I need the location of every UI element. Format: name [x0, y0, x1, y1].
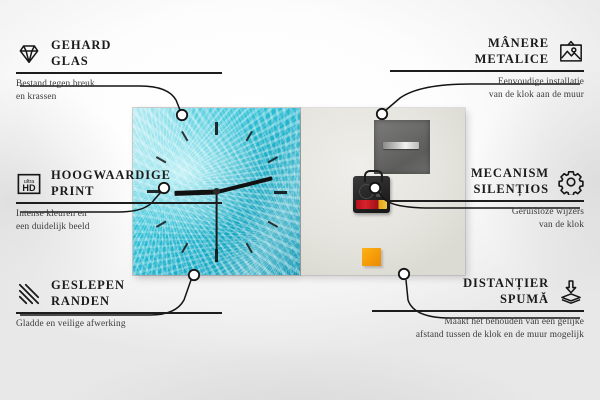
infographic-canvas: GEHARD GLAS Bestand tegen breuk en krass…: [0, 0, 600, 400]
feature-desc: Geruisloze wijzers van de klok: [390, 206, 584, 232]
clock-mechanism: [353, 176, 390, 213]
diagonal-lines-icon: [16, 281, 42, 307]
battery: [356, 200, 387, 209]
feature-rule: [372, 310, 584, 312]
hanger-slot: [383, 142, 419, 149]
feature-title: DISTANȚIER SPUMĂ: [463, 276, 549, 307]
feature-rule: [16, 72, 222, 74]
feature-desc: Intense kleuren en een duidelijk beeld: [16, 208, 222, 234]
feature-rule: [390, 200, 584, 202]
mechanism-dial: [359, 184, 374, 199]
svg-text:HD: HD: [22, 182, 36, 192]
feature-hoogwaardige-print[interactable]: ultra HD HOOGWAARDIGE PRINT Intense kleu…: [16, 168, 222, 234]
feature-title: MÂNERE METALICE: [475, 36, 549, 67]
foam-spacer: [362, 248, 381, 266]
feature-head: GESLEPEN RANDEN: [16, 278, 222, 309]
feature-head: ultra HD HOOGWAARDIGE PRINT: [16, 168, 222, 199]
mechanism-shaft: [376, 185, 381, 197]
feature-title: HOOGWAARDIGE PRINT: [51, 168, 171, 199]
feature-desc: Bestand tegen breuk en krassen: [16, 78, 222, 104]
feature-head: MECANISM SILENȚIOS: [390, 166, 584, 197]
diamond-icon: [16, 41, 42, 67]
feature-head: MÂNERE METALICE: [390, 36, 584, 67]
gear-icon: [558, 169, 584, 195]
feature-geslepen-randen[interactable]: GESLEPEN RANDEN Gladde en veilige afwerk…: [16, 278, 222, 331]
feature-gehard-glas[interactable]: GEHARD GLAS Bestand tegen breuk en krass…: [16, 38, 222, 104]
picture-frame-hanger-icon: [558, 39, 584, 65]
feature-rule: [16, 312, 222, 314]
feature-desc: Maakt het behouden van een gelijke afsta…: [372, 316, 584, 342]
feature-desc: Gladde en veilige afwerking: [16, 318, 222, 331]
ultra-hd-icon: ultra HD: [16, 171, 42, 197]
press-down-layers-icon: [558, 279, 584, 305]
feature-head: DISTANȚIER SPUMĂ: [372, 276, 584, 307]
feature-title: GEHARD GLAS: [51, 38, 111, 69]
feature-desc: Eenvoudige installatie van de klok aan d…: [390, 76, 584, 102]
feature-distantier-spuma[interactable]: DISTANȚIER SPUMĂ Maakt het behouden van …: [372, 276, 584, 342]
feature-head: GEHARD GLAS: [16, 38, 222, 69]
feature-mecanism-silentios[interactable]: MECANISM SILENȚIOS Geruisloze wijzers va…: [390, 166, 584, 232]
feature-title: MECANISM SILENȚIOS: [471, 166, 549, 197]
hanger-loop: [364, 170, 383, 182]
feature-rule: [16, 202, 222, 204]
feature-rule: [390, 70, 584, 72]
feature-manere-metalice[interactable]: MÂNERE METALICE Eenvoudige installatie v…: [390, 36, 584, 102]
feature-title: GESLEPEN RANDEN: [51, 278, 125, 309]
